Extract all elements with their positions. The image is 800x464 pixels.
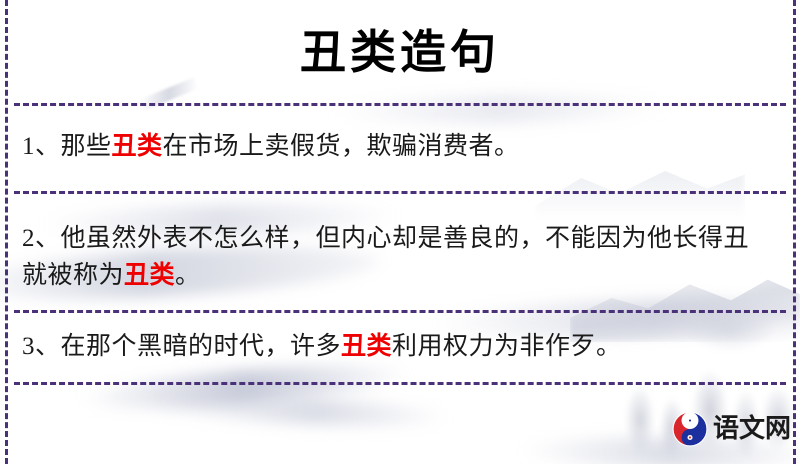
sentence-2-index: 2、: [22, 225, 61, 252]
sentence-1-part-3: 在市场上卖假货，欺骗消费者。: [163, 133, 520, 160]
keyword-choulei-2: 丑类: [124, 262, 175, 289]
sentence-3-part-3: 利用权力为非作歹。: [392, 333, 622, 360]
sentence-1-part-1: 那些: [61, 133, 112, 160]
sentence-2-part-3: 。: [175, 262, 201, 289]
divider-2: [14, 310, 786, 313]
page-title: 丑类造句: [0, 24, 800, 80]
site-logo[interactable]: 语文网: [672, 411, 791, 447]
divider-3: [14, 382, 786, 385]
sentence-3-index: 3、: [22, 333, 61, 360]
border-dashed-right: [793, 0, 796, 464]
divider-1: [14, 191, 786, 194]
site-logo-text: 语文网: [713, 416, 791, 442]
example-sentence-2: 2、他虽然外表不怎么样，但内心却是善良的，不能因为他长得丑就被称为丑类。: [22, 220, 774, 294]
sentence-3-part-1: 在那个黑暗的时代，许多: [61, 333, 342, 360]
sentence-1-index: 1、: [22, 133, 61, 160]
example-sentence-1: 1、那些丑类在市场上卖假货，欺骗消费者。: [22, 128, 774, 165]
example-sentence-3: 3、在那个黑暗的时代，许多丑类利用权力为非作歹。: [22, 328, 774, 365]
divider-top: [14, 103, 786, 106]
slide-page: 丑类造句 1、那些丑类在市场上卖假货，欺骗消费者。 2、他虽然外表不怎么样，但内…: [0, 0, 800, 464]
keyword-choulei-1: 丑类: [112, 133, 163, 160]
yinyang-fish-logo-icon: [672, 411, 708, 447]
keyword-choulei-3: 丑类: [341, 333, 392, 360]
border-dashed-left: [5, 0, 8, 464]
